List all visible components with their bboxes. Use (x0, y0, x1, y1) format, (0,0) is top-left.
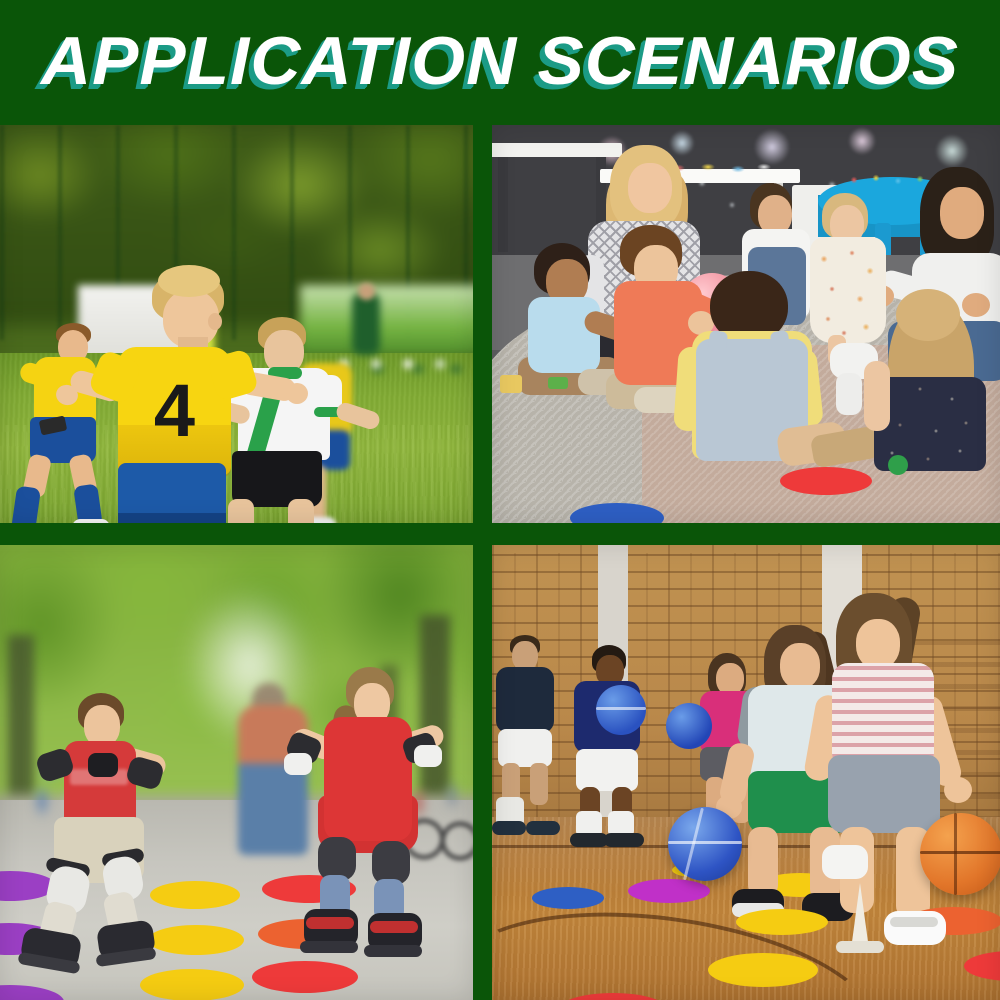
child-right-arm (864, 361, 890, 431)
girl-b-grey-shorts (828, 755, 940, 833)
girl-skate-wheels-left (300, 941, 358, 953)
background-coach (352, 293, 380, 355)
background-coach-head (358, 283, 375, 300)
child-right-hair-top (896, 289, 960, 341)
bg-player-2-shoe-1 (570, 833, 608, 847)
boy-wrist-guard (88, 753, 118, 777)
panel-classroom (492, 125, 1000, 523)
soccer-scene: 4 (0, 125, 473, 523)
bg-player-1-top (496, 667, 554, 733)
spot-marker (736, 909, 828, 935)
basketball-seam-horizontal (668, 841, 742, 844)
background-adult-body (238, 705, 308, 855)
park-scene (0, 545, 473, 1000)
main-boy-shorts-shading (118, 513, 226, 523)
girl-b-shoe-laces (890, 917, 938, 927)
header-banner: APPLICATION SCENARIOS (0, 0, 1000, 125)
girl-a-leg-left (748, 827, 778, 897)
bg-player-1-shoe-1 (492, 821, 526, 835)
poster-root: APPLICATION SCENARIOS (0, 0, 1000, 1000)
girl-wrist-guard-right (414, 745, 442, 767)
white-kit-boy-leg-left (228, 499, 254, 523)
bg-player-1-shorts (498, 729, 552, 767)
page-title: APPLICATION SCENARIOS (41, 27, 959, 99)
sideline-banner-green (300, 285, 473, 355)
girl-a-head (780, 643, 820, 689)
spot-marker (628, 879, 710, 903)
main-boy-hand-right (286, 383, 308, 404)
girl-b-head (856, 619, 900, 669)
panel-soccer: 4 (0, 125, 473, 523)
spot-marker (708, 953, 818, 987)
spot-marker (532, 887, 604, 909)
panel-park-rollerblading (0, 545, 473, 1000)
girl-b-hand (944, 777, 972, 803)
white-kit-boy-leg-right (288, 499, 314, 523)
basketball-blue-dribbled (668, 807, 742, 881)
teacher-brunette-head (940, 187, 984, 239)
bg-player-1-shoe-2 (526, 821, 560, 835)
girl-red-dress (324, 717, 412, 841)
girl-skate-accent-left (306, 917, 354, 929)
spot-marker (140, 969, 244, 1000)
desk-left-leg-1 (498, 157, 508, 252)
spot-marker (780, 467, 872, 495)
wooden-block-1 (500, 375, 522, 393)
spot-marker (150, 881, 240, 909)
green-ball-toy-2 (888, 455, 908, 475)
child-sock-leg (836, 373, 862, 415)
wooden-block-2 (548, 377, 568, 389)
bg-player-1-leg-2 (530, 763, 548, 805)
spot-marker (148, 925, 244, 955)
girl-skate-wheels-right (364, 945, 422, 957)
basketball-blue-background (666, 703, 712, 749)
basketball-seam (596, 707, 646, 710)
girl-wrist-guard-left (284, 753, 312, 775)
jersey-number: 4 (118, 355, 231, 465)
child-floral-dress-pattern (810, 237, 886, 343)
training-cone-base (836, 941, 884, 953)
basketball-blue-held (596, 685, 646, 735)
spot-marker (252, 961, 358, 993)
desk-left-top (492, 143, 622, 157)
child-blue-shirt-top (528, 297, 600, 373)
main-boy-hair-highlight (158, 265, 220, 297)
basketball-orange (920, 813, 1000, 895)
girl-b-tank-stripes (832, 663, 934, 769)
basketball-orange-seam-v (954, 813, 957, 895)
gym-scene (492, 545, 1000, 1000)
panel-gym-basketball (492, 545, 1000, 1000)
teacher-blonde-head (628, 163, 672, 213)
girl-b-shoe-left (822, 845, 868, 879)
girl-skate-accent-right (370, 921, 418, 933)
teacher-brunette-hand-2 (962, 293, 990, 317)
basketball-orange-seam-h (920, 851, 1000, 854)
left-boy-shoe-2 (72, 519, 110, 523)
classroom-scene (492, 125, 1000, 523)
bg-player-2-shoe-2 (604, 833, 644, 847)
main-boy-ear (208, 313, 222, 330)
left-boy-sock-1 (11, 486, 41, 523)
table-toys (842, 173, 932, 187)
bg-player-2-shorts (576, 749, 638, 791)
